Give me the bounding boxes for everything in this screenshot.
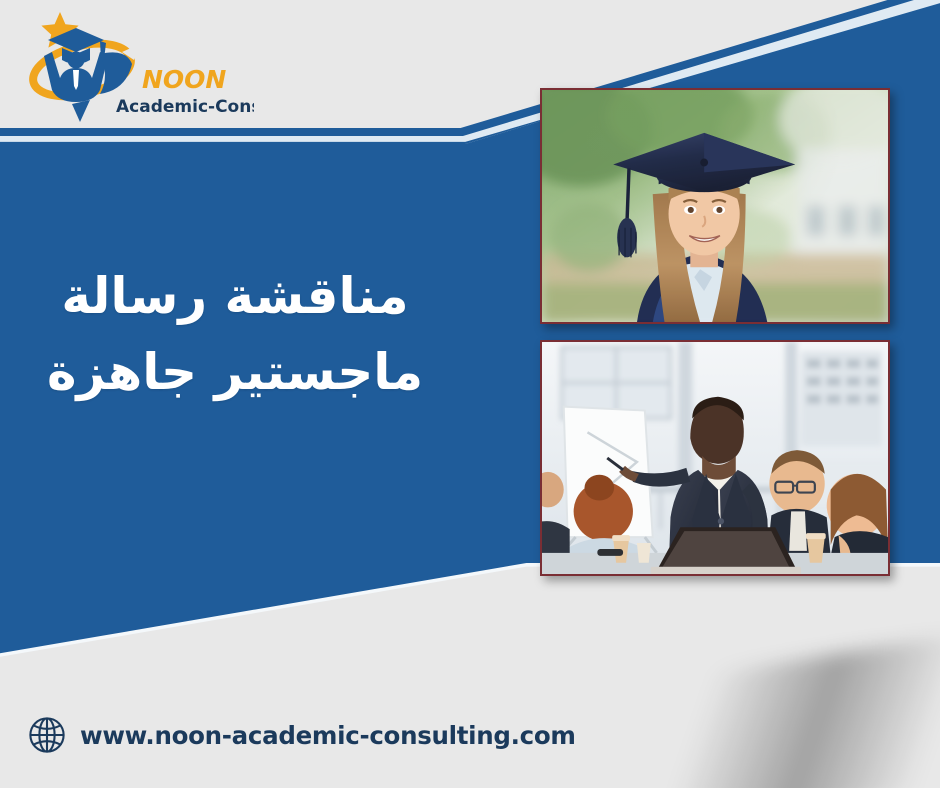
brand-logo: NOON Academic-Consulting — [14, 8, 254, 124]
headline-line-1: مناقشة رسالة — [0, 258, 470, 334]
page-title: مناقشة رسالة ماجستير جاهزة — [0, 258, 470, 410]
footer: www.noon-academic-consulting.com — [28, 716, 576, 754]
photo-graduate — [540, 88, 890, 324]
logo-wordmark: NOON — [142, 65, 226, 94]
website-url[interactable]: www.noon-academic-consulting.com — [80, 721, 576, 750]
photo-meeting — [540, 340, 890, 576]
corner-shadow — [511, 633, 940, 788]
headline-line-2: ماجستير جاهزة — [0, 334, 470, 410]
logo-tagline: Academic-Consulting — [116, 97, 254, 117]
globe-icon — [28, 716, 66, 754]
promotional-poster: NOON Academic-Consulting مناقشة رسالة ما… — [0, 0, 940, 788]
